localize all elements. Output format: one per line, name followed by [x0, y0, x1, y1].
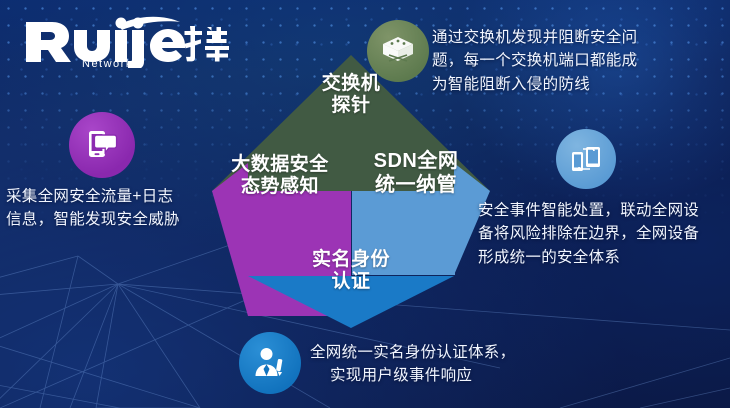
- ruijie-logo-icon: Networks: [22, 16, 232, 68]
- monitor-chat-glyph: [85, 128, 119, 162]
- callout-text-bottom: 全网统一实名身份认证体系， 实现用户级事件响应: [310, 341, 610, 388]
- diamond-left-fill: [248, 191, 351, 275]
- network-switch-glyph: [381, 34, 415, 68]
- user-id-glyph: [252, 345, 288, 381]
- callout-text-left: 采集全网安全流量+日志 信息，智能发现安全威胁: [6, 185, 212, 232]
- diamond-right-fill[interactable]: [352, 191, 455, 275]
- network-switch-icon[interactable]: [367, 20, 429, 82]
- brand-logo: Networks: [22, 16, 232, 68]
- diamond-left-tip: [212, 163, 248, 275]
- diamond-shapes: [212, 55, 490, 328]
- callout-text-right: 安全事件智能处置，联动全网设 备将风险排除在边界，全网设备 形成统一的安全体系: [478, 199, 728, 269]
- callout-text-top: 通过交换机发现并阻断安全问 题，每一个交换机端口都能成 为智能阻断入侵的防线: [432, 26, 694, 96]
- user-id-icon[interactable]: [239, 332, 301, 394]
- infographic-canvas: Networks 交换机 探针 大数据安全 态势感知 SDN全网 统: [0, 0, 730, 408]
- monitor-chat-icon[interactable]: [69, 112, 135, 178]
- diamond-diagram: [212, 55, 490, 328]
- svg-text:Networks: Networks: [82, 58, 140, 68]
- devices-glyph: [570, 143, 602, 175]
- devices-icon[interactable]: [556, 129, 616, 189]
